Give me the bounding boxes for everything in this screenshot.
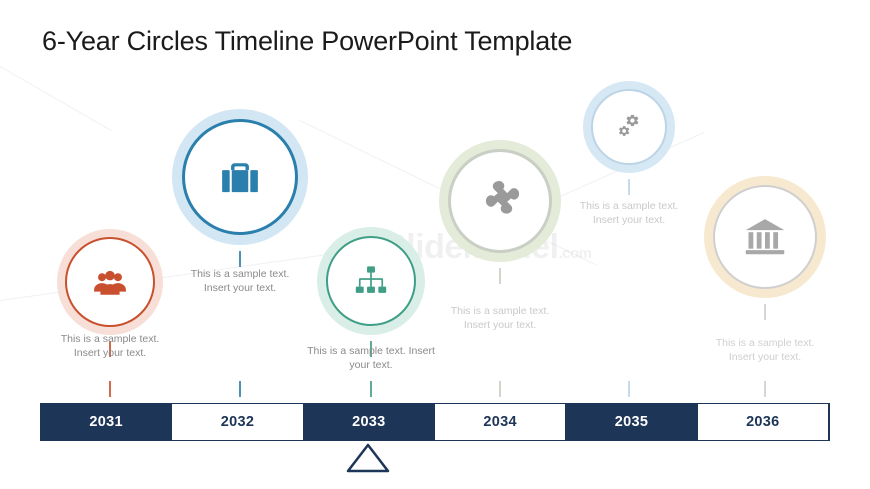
timeline-year-cell-2033[interactable]: 2033 <box>304 404 434 440</box>
node-caption-2035: This is a sample text. Insert your text. <box>549 200 709 228</box>
timeline-node-2034[interactable] <box>439 140 561 262</box>
gears-icon <box>614 112 644 142</box>
timeline-year-cell-2031[interactable]: 2031 <box>41 404 171 440</box>
node-circle-2035[interactable] <box>591 89 667 165</box>
node-caption-2031: This is a sample text. Insert your text. <box>20 333 200 361</box>
connector-stub-bottom-2033 <box>370 381 372 397</box>
decorative-diagonal-line <box>0 60 111 131</box>
node-caption-2036: This is a sample text. Insert your text. <box>680 337 850 365</box>
timeline-year-cell-2034[interactable]: 2034 <box>434 404 566 440</box>
page-title: 6-Year Circles Timeline PowerPoint Templ… <box>42 26 572 57</box>
timeline-node-2032[interactable] <box>172 109 308 245</box>
connector-stub-top-2034 <box>499 268 501 284</box>
node-circle-2034[interactable] <box>448 149 552 253</box>
timeline-node-2036[interactable] <box>704 176 826 298</box>
timeline-year-label: 2031 <box>89 414 122 430</box>
connector-stub-bottom-2036 <box>764 381 766 397</box>
timeline-year-label: 2036 <box>746 414 779 430</box>
node-circle-2036[interactable] <box>713 185 817 289</box>
timeline-node-2031[interactable] <box>57 229 163 335</box>
connector-stub-top-2036 <box>764 304 766 320</box>
connector-stub-bottom-2031 <box>109 381 111 397</box>
puzzle-piece-icon <box>477 178 523 224</box>
timeline-year-label: 2032 <box>221 414 254 430</box>
timeline-year-label: 2033 <box>352 414 385 430</box>
timeline-node-2035[interactable] <box>583 81 675 173</box>
node-circle-2033[interactable] <box>326 236 416 326</box>
triangle-pointer-icon <box>346 443 390 473</box>
node-circle-2031[interactable] <box>65 237 155 327</box>
timeline-year-bar: 203120322033203420352036 <box>40 403 830 441</box>
briefcase-icon <box>218 155 262 199</box>
timeline-year-cell-2035[interactable]: 2035 <box>566 404 696 440</box>
org-chart-icon <box>353 263 389 299</box>
timeline-selected-pointer <box>346 443 390 473</box>
connector-stub-bottom-2032 <box>239 381 241 397</box>
connector-stub-top-2032 <box>239 251 241 267</box>
timeline-year-label: 2034 <box>483 414 516 430</box>
timeline-year-label: 2035 <box>615 414 648 430</box>
watermark-suffix: .com <box>558 245 591 262</box>
node-circle-2032[interactable] <box>182 119 298 235</box>
bank-building-icon <box>743 215 787 259</box>
connector-stub-top-2035 <box>628 179 630 195</box>
people-group-icon <box>93 265 127 299</box>
node-caption-2032: This is a sample text. Insert your text. <box>160 268 320 296</box>
timeline-year-cell-2036[interactable]: 2036 <box>697 404 829 440</box>
connector-stub-bottom-2035 <box>628 381 630 397</box>
timeline-year-cell-2032[interactable]: 2032 <box>171 404 303 440</box>
timeline-node-2033[interactable] <box>317 227 425 335</box>
connector-stub-bottom-2034 <box>499 381 501 397</box>
node-caption-2033: This is a sample text. Insert your text. <box>276 345 466 373</box>
node-caption-2034: This is a sample text. Insert your text. <box>420 305 580 333</box>
